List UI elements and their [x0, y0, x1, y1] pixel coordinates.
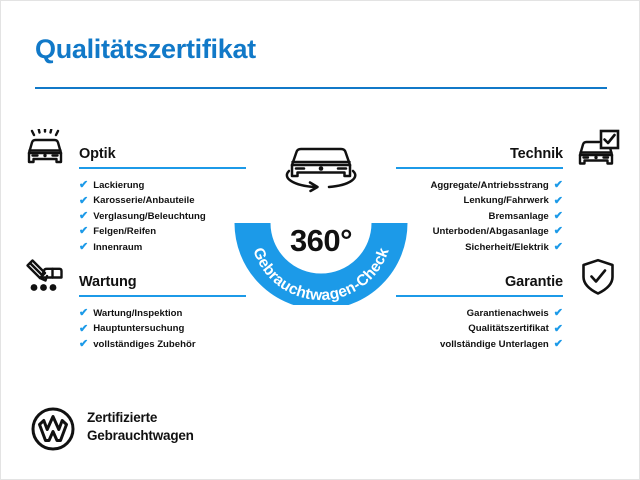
list-item: ✔Felgen/Reifen [79, 224, 251, 239]
list-item: ✔Lackierung [79, 178, 251, 193]
section-optik: Optik ✔Lackierung ✔Karosserie/Anbauteile… [21, 129, 251, 255]
list-item-label: vollständige Unterlagen [440, 337, 549, 352]
section-divider-wartung [79, 295, 246, 297]
list-item: Qualitätszertifikat✔ [391, 321, 563, 336]
check-icon: ✔ [79, 339, 88, 350]
check-icon: ✔ [554, 211, 563, 222]
checklist-garantie: Garantienachweis✔ Qualitätszertifikat✔ v… [391, 306, 621, 352]
check-icon: ✔ [554, 196, 563, 207]
check-icon: ✔ [79, 196, 88, 207]
list-item-label: Lackierung [93, 178, 144, 193]
check-icon: ✔ [79, 211, 88, 222]
list-item: Bremsanlage✔ [391, 209, 563, 224]
list-item: vollständige Unterlagen✔ [391, 337, 563, 352]
list-item-label: Felgen/Reifen [93, 224, 156, 239]
check-icon: ✔ [554, 242, 563, 253]
footer-logo: Zertifizierte Gebrauchtwagen [31, 403, 271, 455]
list-item-label: Sicherheit/Elektrik [465, 240, 549, 255]
check-icon: ✔ [79, 308, 88, 319]
footer-line-2: Gebrauchtwagen [87, 427, 194, 445]
list-item-label: Garantienachweis [467, 306, 549, 321]
check-icon: ✔ [79, 180, 88, 191]
list-item-label: Karosserie/Anbauteile [93, 193, 194, 208]
check-icon: ✔ [79, 242, 88, 253]
list-item-label: Aggregate/Antriebsstrang [430, 178, 548, 193]
title-divider [35, 87, 607, 89]
list-item-label: Hauptuntersuchung [93, 321, 184, 336]
list-item: Sicherheit/Elektrik✔ [391, 240, 563, 255]
check-icon: ✔ [554, 339, 563, 350]
check-icon: ✔ [554, 180, 563, 191]
list-item: ✔Karosserie/Anbauteile [79, 193, 251, 208]
checklist-optik: ✔Lackierung ✔Karosserie/Anbauteile ✔Verg… [21, 178, 251, 255]
list-item-label: Innenraum [93, 240, 142, 255]
list-item: ✔vollständiges Zubehör [79, 337, 251, 352]
section-header-technik: Technik [391, 129, 621, 169]
car-checkbox-icon [575, 129, 621, 169]
list-item: Aggregate/Antriebsstrang✔ [391, 178, 563, 193]
check-icon: ✔ [554, 308, 563, 319]
footer-logo-text: Zertifizierte Gebrauchtwagen [87, 409, 194, 445]
checklist-technik: Aggregate/Antriebsstrang✔ Lenkung/Fahrwe… [391, 178, 621, 255]
car-service-pen-icon [21, 257, 67, 297]
section-garantie: Garantie Garantienachweis✔ Qualitätszert… [391, 257, 621, 352]
check-icon: ✔ [554, 324, 563, 335]
section-header-optik: Optik [21, 129, 251, 169]
section-label-technik: Technik [510, 146, 563, 162]
list-item-label: Wartung/Inspektion [93, 306, 182, 321]
list-item: ✔Hauptuntersuchung [79, 321, 251, 336]
qualitaetszertifikat-page: Qualitätszertifikat [0, 0, 640, 480]
section-header-wartung: Wartung [21, 257, 251, 297]
list-item-label: vollständiges Zubehör [93, 337, 195, 352]
list-item: Garantienachweis✔ [391, 306, 563, 321]
list-item-label: Lenkung/Fahrwerk [463, 193, 548, 208]
checklist-wartung: ✔Wartung/Inspektion ✔Hauptuntersuchung ✔… [21, 306, 251, 352]
check-icon: ✔ [79, 226, 88, 237]
section-header-garantie: Garantie [391, 257, 621, 297]
list-item-label: Unterboden/Abgasanlage [433, 224, 549, 239]
section-label-wartung: Wartung [79, 274, 137, 290]
vw-logo-icon [31, 407, 75, 451]
car-shine-icon [21, 129, 67, 169]
check-icon: ✔ [79, 324, 88, 335]
list-item: ✔Wartung/Inspektion [79, 306, 251, 321]
list-item: Unterboden/Abgasanlage✔ [391, 224, 563, 239]
section-divider-technik [396, 167, 563, 169]
section-label-garantie: Garantie [505, 274, 563, 290]
section-divider-optik [79, 167, 246, 169]
section-wartung: Wartung ✔Wartung/Inspektion ✔Hauptunters… [21, 257, 251, 352]
list-item-label: Qualitätszertifikat [468, 321, 549, 336]
list-item-label: Bremsanlage [489, 209, 549, 224]
list-item: ✔Verglasung/Beleuchtung [79, 209, 251, 224]
page-title: Qualitätszertifikat [35, 34, 256, 65]
section-technik: Technik Aggregate/Antriebsstrang✔ Lenkun… [391, 129, 621, 255]
list-item: ✔Innenraum [79, 240, 251, 255]
section-divider-garantie [396, 295, 563, 297]
list-item: Lenkung/Fahrwerk✔ [391, 193, 563, 208]
section-label-optik: Optik [79, 146, 116, 162]
shield-check-icon [575, 257, 621, 297]
check-icon: ✔ [554, 226, 563, 237]
list-item-label: Verglasung/Beleuchtung [93, 209, 205, 224]
footer-line-1: Zertifizierte [87, 409, 194, 427]
badge-360-gebrauchtwagen-check: Gebrauchtwagen-Check 3 [233, 119, 409, 305]
